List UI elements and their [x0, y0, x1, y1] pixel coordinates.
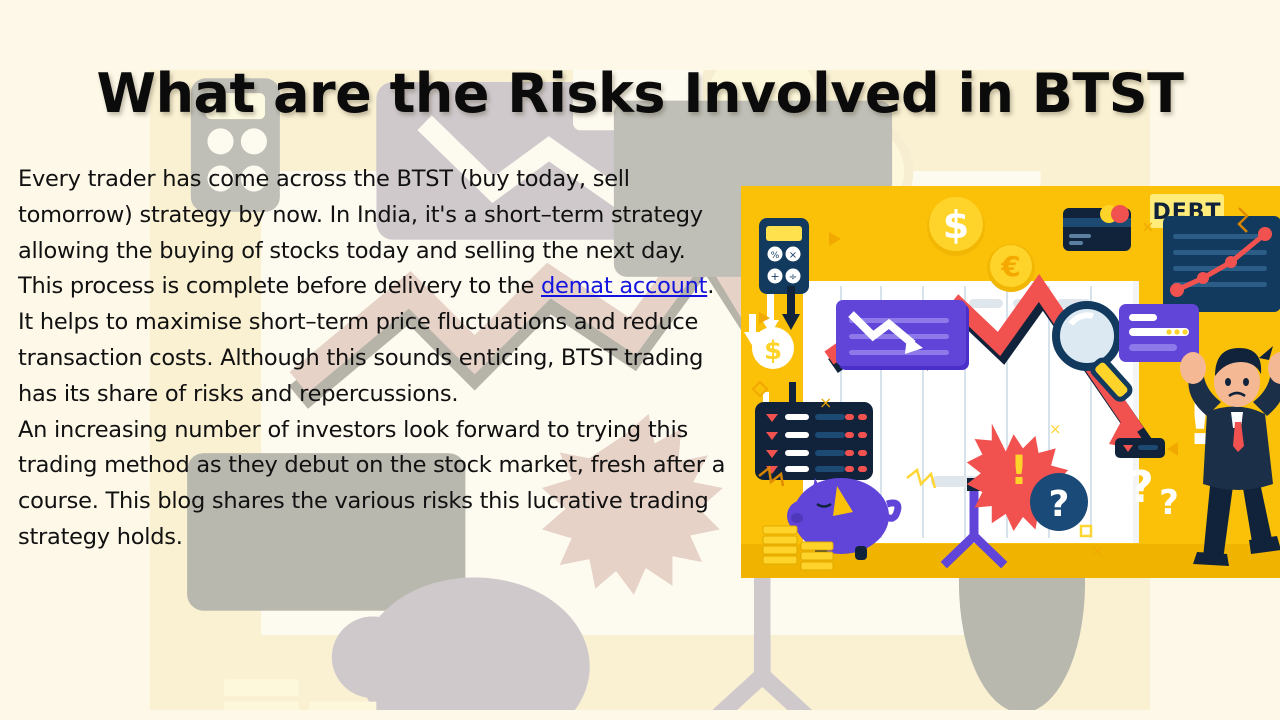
question-badge: ? [1030, 473, 1088, 531]
small-ticker-pill [1115, 438, 1165, 458]
svg-text:!: ! [1010, 448, 1028, 494]
credit-card-icon [1063, 205, 1131, 251]
svg-text:?: ? [1049, 484, 1070, 525]
svg-text:×: × [819, 393, 832, 412]
demat-account-link[interactable]: demat account [541, 273, 707, 299]
debt-chart-panel [1163, 216, 1280, 312]
svg-text:×: × [789, 250, 797, 261]
svg-text:?: ? [1159, 483, 1179, 523]
svg-text:÷: ÷ [789, 272, 797, 283]
svg-text:+: + [770, 270, 779, 283]
svg-text:×: × [1091, 542, 1104, 560]
purple-decline-card [836, 300, 969, 370]
svg-text:€: € [1000, 250, 1020, 283]
stock-market-crash-illustration: % × + ÷ $ [741, 186, 1280, 578]
svg-text:%: % [771, 251, 780, 261]
paragraph-one: Every trader has come across the BTST (b… [18, 162, 730, 413]
svg-text:?: ? [1128, 462, 1154, 513]
stock-ticker-board [755, 402, 873, 480]
article-body: Every trader has come across the BTST (b… [18, 162, 730, 556]
calculator-icon: % × + ÷ [759, 218, 809, 294]
euro-coin-icon: € [987, 244, 1035, 292]
purple-message-card [1119, 304, 1199, 362]
svg-text:$: $ [764, 336, 782, 366]
paragraph-two: An increasing number of investors look f… [18, 413, 730, 556]
slide-root: What are the Risks Involved in BTST Ever… [0, 0, 1280, 720]
svg-text:×: × [1049, 420, 1062, 438]
svg-text:$: $ [943, 203, 969, 247]
svg-text:×: × [1141, 217, 1154, 236]
page-title: What are the Risks Involved in BTST [0, 62, 1280, 125]
